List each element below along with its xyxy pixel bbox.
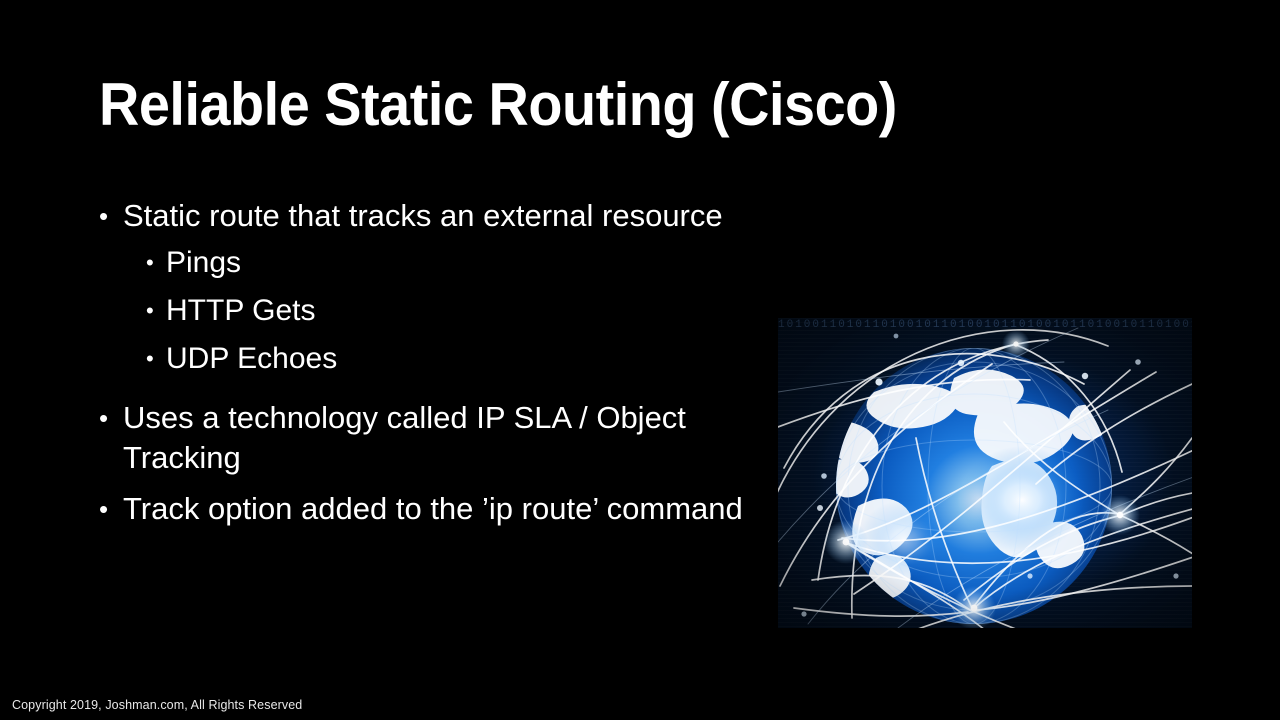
bullet-text: Pings	[166, 239, 771, 287]
bullet-item-level2: • UDP Echoes	[99, 335, 771, 383]
bullet-sublist: • Pings • HTTP Gets • UDP Echoes	[99, 239, 771, 383]
list-spacer	[99, 388, 771, 398]
bullet-item-level1: • Uses a technology called IP SLA / Obje…	[99, 398, 771, 478]
bullet-item-level1: • Static route that tracks an external r…	[99, 196, 771, 236]
bullet-marker-icon: •	[99, 398, 123, 438]
network-globe-image: 1010011010110100101101001011010010110100…	[778, 318, 1192, 628]
bullet-marker-icon: •	[99, 489, 123, 529]
copyright-footer: Copyright 2019, Joshman.com, All Rights …	[12, 697, 302, 713]
bullet-item-level2: • HTTP Gets	[99, 287, 771, 335]
bullet-text: Track option added to the ’ip route’ com…	[123, 489, 771, 529]
bullet-marker-icon: •	[146, 239, 166, 287]
bullet-text: Static route that tracks an external res…	[123, 196, 771, 236]
bullet-text: Uses a technology called IP SLA / Object…	[123, 398, 771, 478]
bullet-item-level2: • Pings	[99, 239, 771, 287]
bullet-list: • Static route that tracks an external r…	[99, 196, 771, 530]
page-title: Reliable Static Routing (Cisco)	[99, 70, 1029, 139]
list-spacer	[99, 479, 771, 489]
bullet-text: HTTP Gets	[166, 287, 771, 335]
bullet-marker-icon: •	[146, 335, 166, 383]
globe-graphic	[778, 318, 1192, 628]
bullet-item-level1: • Track option added to the ’ip route’ c…	[99, 489, 771, 529]
bullet-marker-icon: •	[146, 287, 166, 335]
bullet-text: UDP Echoes	[166, 335, 771, 383]
bullet-marker-icon: •	[99, 196, 123, 236]
presentation-slide: Reliable Static Routing (Cisco) • Static…	[0, 0, 1280, 720]
